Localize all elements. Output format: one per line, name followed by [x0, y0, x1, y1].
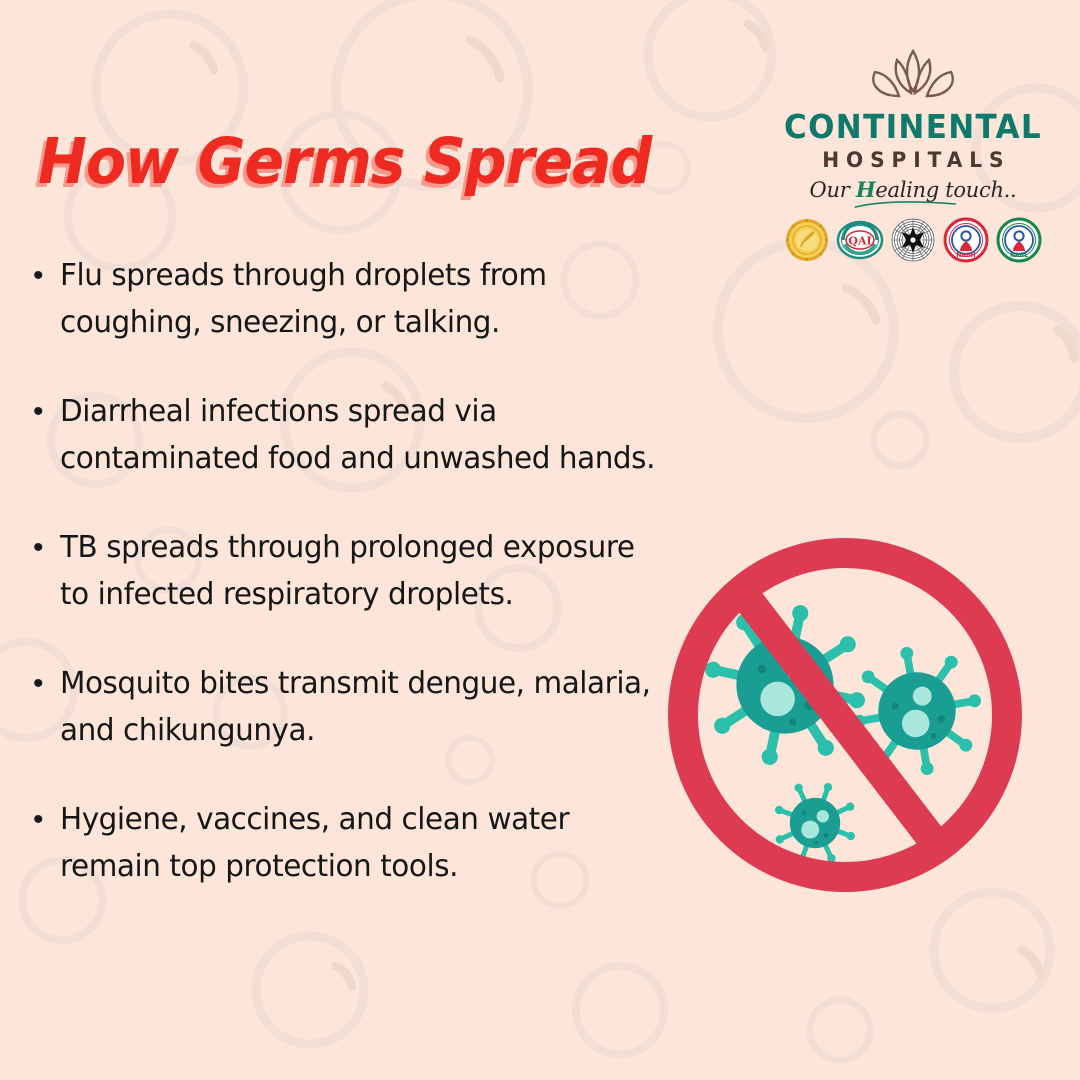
accreditation-badges: QAI	[772, 216, 1054, 264]
list-item-text: Mosquito bites transmit dengue, malaria,…	[60, 660, 664, 754]
nabh-accreditation-badge: NABH	[942, 216, 990, 264]
poster-canvas: How Germs Spread • Flu spreads through d…	[0, 0, 1080, 1080]
list-item-text: Hygiene, vaccines, and clean water remai…	[60, 796, 664, 890]
list-item: • TB spreads through prolonged exposure …	[26, 524, 686, 618]
bullet-marker-icon: •	[26, 796, 60, 843]
brand-name: CONTINENTAL	[780, 108, 1045, 146]
tagline-prefix: Our	[810, 178, 856, 202]
list-item-text: Flu spreads through droplets from coughi…	[60, 252, 664, 346]
list-item: • Mosquito bites transmit dengue, malari…	[26, 660, 686, 754]
qai-accreditation-badge: QAI	[836, 216, 884, 264]
bullet-marker-icon: •	[26, 660, 60, 707]
starburst-seal-badge	[889, 216, 937, 264]
gold-medallion-badge	[783, 216, 831, 264]
lotus-petals-icon	[853, 46, 973, 106]
svg-text:QAI: QAI	[848, 235, 871, 248]
brand-subtitle: HOSPITALS	[778, 146, 1049, 174]
list-item: • Diarrheal infections spread via contam…	[26, 388, 686, 482]
list-item: • Hygiene, vaccines, and clean water rem…	[26, 796, 686, 890]
nabh-badge-label: NABH	[956, 252, 975, 259]
bullet-marker-icon: •	[26, 388, 60, 435]
page-title-text: How Germs Spread	[38, 124, 651, 200]
brand-tagline: Our Healing touch..	[772, 174, 1054, 208]
continental-hospitals-logo: CONTINENTAL HOSPITALS Our Healing touch.…	[772, 46, 1054, 264]
page-title: How Germs Spread	[38, 124, 698, 200]
bullet-marker-icon: •	[26, 524, 60, 571]
list-item: • Flu spreads through droplets from coug…	[26, 252, 686, 346]
germ-spread-facts-list: • Flu spreads through droplets from coug…	[26, 252, 686, 890]
list-item-text: Diarrheal infections spread via contamin…	[60, 388, 664, 482]
no-germs-prohibition-sign	[645, 525, 1045, 905]
tagline-underline-swash-icon	[851, 199, 961, 211]
nabl-badge-label: NABL	[1010, 252, 1028, 259]
nabl-accreditation-badge: NABL	[995, 216, 1043, 264]
list-item-text: TB spreads through prolonged exposure to…	[60, 524, 664, 618]
bullet-marker-icon: •	[26, 252, 60, 299]
